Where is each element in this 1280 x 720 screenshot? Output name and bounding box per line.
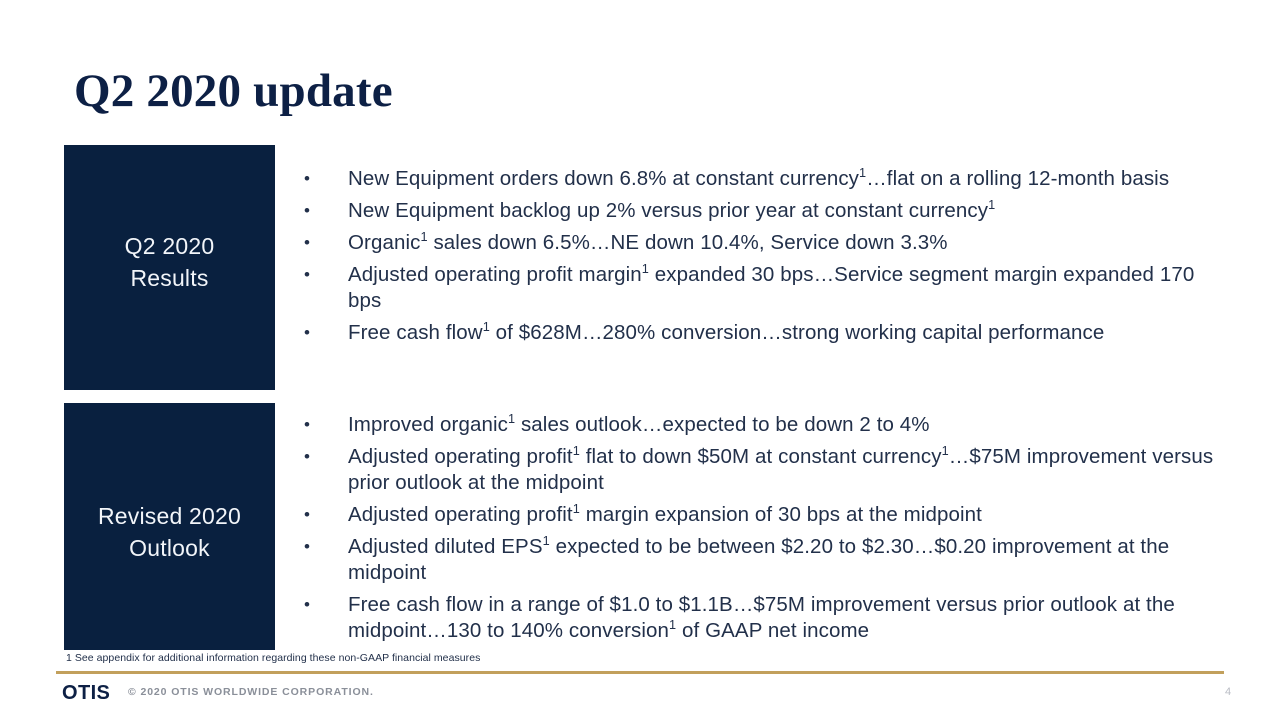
footnote-marker: 1 (508, 411, 515, 426)
bullet-marker-icon: • (300, 534, 348, 560)
page-title: Q2 2020 update (74, 64, 393, 118)
bullet-text: New Equipment backlog up 2% versus prior… (348, 198, 1220, 224)
bullet-item: •Adjusted operating profit1 flat to down… (300, 444, 1220, 496)
bullet-marker-icon: • (300, 502, 348, 528)
bullet-list-outlook: •Improved organic1 sales outlook…expecte… (300, 412, 1220, 650)
bullet-item: •Improved organic1 sales outlook…expecte… (300, 412, 1220, 438)
bullet-text: Adjusted operating profit1 margin expans… (348, 502, 1220, 528)
bullet-item: •Free cash flow1 of $628M…280% conversio… (300, 320, 1220, 346)
bullet-marker-icon: • (300, 230, 348, 256)
footnote-marker: 1 (859, 165, 866, 180)
page-number: 4 (1225, 686, 1231, 698)
bullet-list-results: •New Equipment orders down 6.8% at const… (300, 166, 1220, 352)
footnote-marker: 1 (483, 319, 490, 334)
bullet-item: •New Equipment orders down 6.8% at const… (300, 166, 1220, 192)
bullet-marker-icon: • (300, 444, 348, 470)
footnote: 1 See appendix for additional informatio… (66, 652, 480, 664)
footnote-marker: 1 (942, 443, 949, 458)
footnote-marker: 1 (573, 443, 580, 458)
bullet-text: Adjusted operating profit1 flat to down … (348, 444, 1220, 496)
bullet-text: Adjusted diluted EPS1 expected to be bet… (348, 534, 1220, 586)
section-label-box-outlook: Revised 2020 Outlook (64, 403, 275, 650)
bullet-marker-icon: • (300, 262, 348, 288)
footnote-marker: 1 (642, 261, 649, 276)
bullet-text: New Equipment orders down 6.8% at consta… (348, 166, 1220, 192)
bullet-text: Organic1 sales down 6.5%…NE down 10.4%, … (348, 230, 1220, 256)
bullet-marker-icon: • (300, 412, 348, 438)
bullet-item: •Adjusted operating profit margin1 expan… (300, 262, 1220, 314)
bullet-text: Free cash flow1 of $628M…280% conversion… (348, 320, 1220, 346)
bullet-marker-icon: • (300, 166, 348, 192)
section-label-text-outlook: Revised 2020 Outlook (98, 500, 241, 564)
otis-logo: OTIS (62, 682, 110, 705)
bullet-text: Improved organic1 sales outlook…expected… (348, 412, 1220, 438)
bullet-marker-icon: • (300, 592, 348, 618)
footnote-marker: 1 (420, 229, 427, 244)
bullet-item: •Free cash flow in a range of $1.0 to $1… (300, 592, 1220, 644)
footnote-marker: 1 (988, 197, 995, 212)
footnote-marker: 1 (543, 533, 550, 548)
section-label-box-results: Q2 2020 Results (64, 145, 275, 390)
section-label-text-results: Q2 2020 Results (125, 230, 215, 294)
footnote-marker: 1 (669, 617, 676, 632)
footer-divider (56, 671, 1224, 674)
bullet-text: Adjusted operating profit margin1 expand… (348, 262, 1220, 314)
bullet-marker-icon: • (300, 320, 348, 346)
bullet-item: •New Equipment backlog up 2% versus prio… (300, 198, 1220, 224)
bullet-item: •Organic1 sales down 6.5%…NE down 10.4%,… (300, 230, 1220, 256)
bullet-item: •Adjusted diluted EPS1 expected to be be… (300, 534, 1220, 586)
copyright-text: © 2020 OTIS WORLDWIDE CORPORATION. (128, 686, 374, 698)
bullet-text: Free cash flow in a range of $1.0 to $1.… (348, 592, 1220, 644)
footnote-marker: 1 (573, 501, 580, 516)
slide: Q2 2020 update Q2 2020 Results Revised 2… (0, 0, 1280, 720)
bullet-item: •Adjusted operating profit1 margin expan… (300, 502, 1220, 528)
bullet-marker-icon: • (300, 198, 348, 224)
